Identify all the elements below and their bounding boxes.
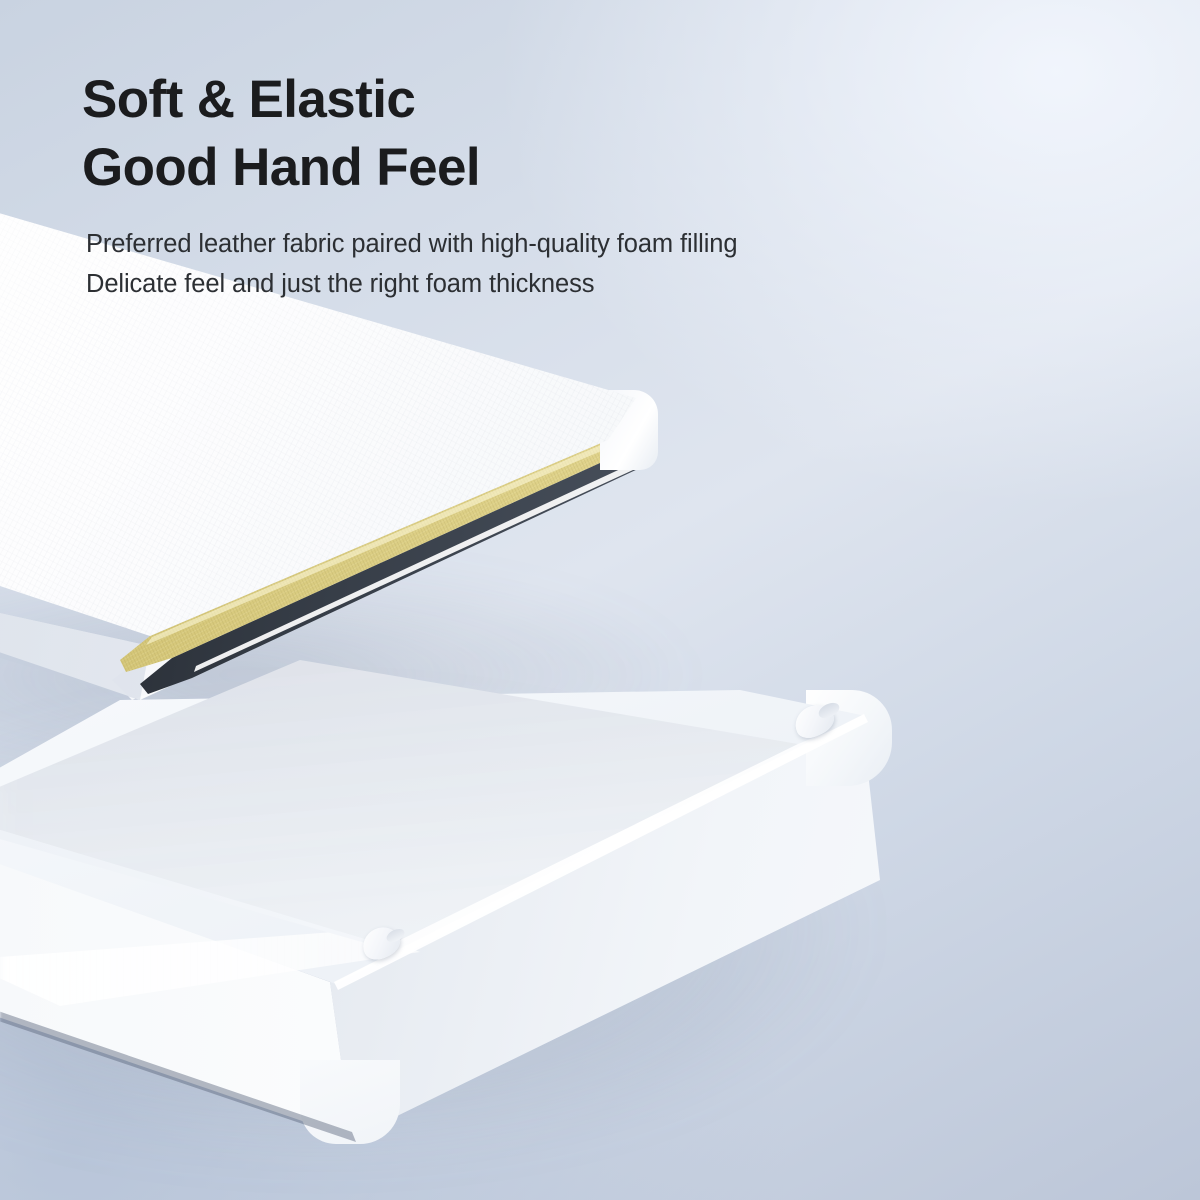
page-title: Soft & Elastic Good Hand Feel — [82, 66, 1042, 202]
product-banner: Soft & Elastic Good Hand Feel Preferred … — [0, 0, 1200, 1200]
headline-line-2: Good Hand Feel — [82, 134, 1042, 202]
headline-line-1: Soft & Elastic — [82, 70, 415, 129]
subtitle: Preferred leather fabric paired with hig… — [86, 224, 1042, 304]
subtitle-line-1: Preferred leather fabric paired with hig… — [86, 224, 1042, 264]
subtitle-line-2: Delicate feel and just the right foam th… — [86, 264, 1042, 304]
marketing-copy: Soft & Elastic Good Hand Feel Preferred … — [82, 66, 1042, 304]
